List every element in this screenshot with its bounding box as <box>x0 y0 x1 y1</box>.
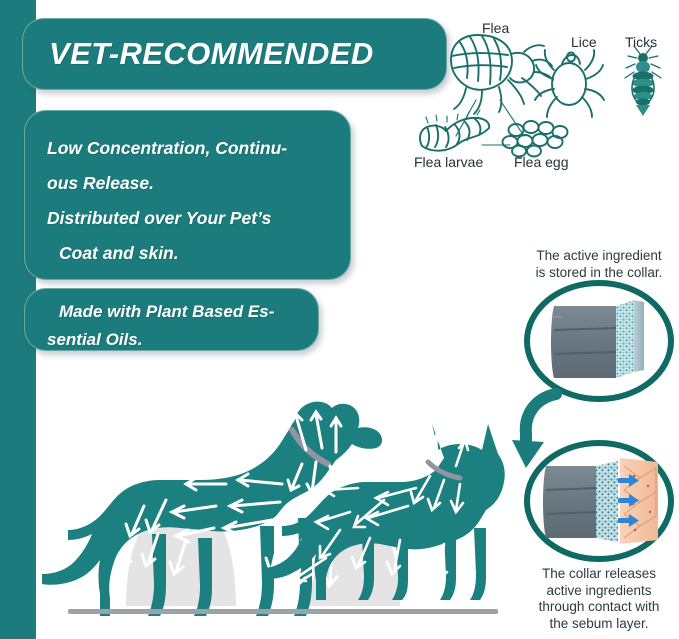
benefit-one-line-4: Coat and skin. <box>47 236 332 271</box>
flea-larvae-label: Flea larvae <box>414 154 483 170</box>
collar-storage-caption-line-1: The active ingredient <box>514 248 679 265</box>
benefit-panel-essential-oils: Made with Plant Based Es- sential Oils. <box>24 288 319 351</box>
page-title: VET-RECOMMENDED <box>23 36 374 72</box>
lice-label: Lice <box>571 34 597 50</box>
ticks-label: Ticks <box>625 34 657 50</box>
collar-sebum-contact-icon <box>538 454 666 550</box>
benefit-two-line-1: Made with Plant Based Es- <box>47 298 304 326</box>
benefit-panel-concentration: Low Concentration, Continu- ous Release.… <box>24 110 351 280</box>
collar-cross-section-icon <box>538 294 660 390</box>
flea-label: Flea <box>482 20 509 36</box>
pest-diagram: Flea Lice Ticks Flea larvae Flea egg <box>404 8 679 178</box>
pet-distribution-illustration <box>40 388 540 628</box>
collar-release-diagram <box>524 440 674 562</box>
benefit-two-line-2: sential Oils. <box>47 326 304 354</box>
benefit-one-line-2: ous Release. <box>47 166 332 201</box>
collar-storage-caption: The active ingredient is stored in the c… <box>514 248 679 281</box>
flea-egg-icon <box>503 121 568 157</box>
flea-egg-label: Flea egg <box>514 154 568 170</box>
collar-storage-diagram <box>524 280 674 402</box>
ground-line <box>68 609 498 614</box>
flea-larvae-icon <box>420 110 489 151</box>
benefit-one-line-3: Distributed over Your Pet’s <box>47 201 332 236</box>
flea-icon <box>451 35 553 114</box>
infographic-canvas: VET-RECOMMENDED Low Concentration, Conti… <box>0 0 679 639</box>
tick-icon <box>625 46 661 116</box>
release-arrows <box>618 474 639 527</box>
header-banner: VET-RECOMMENDED <box>22 18 447 90</box>
pet-silhouettes-graphic <box>40 388 540 628</box>
benefit-one-line-1: Low Concentration, Continu- <box>47 131 332 166</box>
collar-storage-caption-line-2: is stored in the collar. <box>514 265 679 282</box>
